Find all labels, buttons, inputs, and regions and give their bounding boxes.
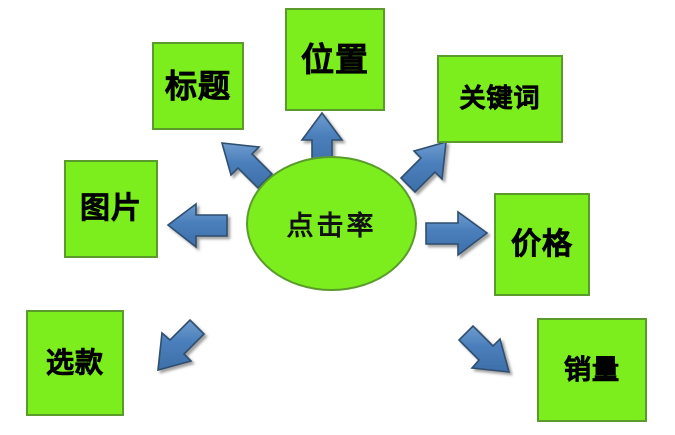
node-guanjianci[interactable]: 关键词 <box>437 55 563 143</box>
node-guanjianci-label: 关键词 <box>459 86 540 112</box>
node-tupian[interactable]: 图片 <box>64 160 158 258</box>
arrow-down-right-to-xiaoliang <box>459 326 509 372</box>
node-biaoti-label: 标题 <box>165 70 231 102</box>
node-xuankuan[interactable]: 选款 <box>26 310 124 416</box>
node-biaoti[interactable]: 标题 <box>152 42 244 130</box>
node-tupian-label: 图片 <box>80 194 142 224</box>
node-xiaoliang[interactable]: 销量 <box>537 318 647 422</box>
node-xuankuan-label: 选款 <box>46 349 104 377</box>
node-jiage-label: 价格 <box>511 230 573 260</box>
arrow-left-to-tupian <box>168 204 227 247</box>
hub-label: 点击率 <box>287 204 377 243</box>
node-weizhi[interactable]: 位置 <box>285 8 385 111</box>
node-xiaoliang-label: 销量 <box>564 357 620 384</box>
hub-click-through-rate[interactable]: 点击率 <box>246 156 417 291</box>
node-jiage[interactable]: 价格 <box>494 193 590 296</box>
node-weizhi-label: 位置 <box>301 43 369 76</box>
diagram-canvas: 点击率 标题 位置 关键词 图片 价格 选款 销量 <box>0 0 675 435</box>
arrow-up-right-to-guanjianci <box>401 142 446 192</box>
arrow-down-left-to-xuankuan <box>158 320 204 370</box>
arrow-right-to-jiage <box>426 212 487 255</box>
